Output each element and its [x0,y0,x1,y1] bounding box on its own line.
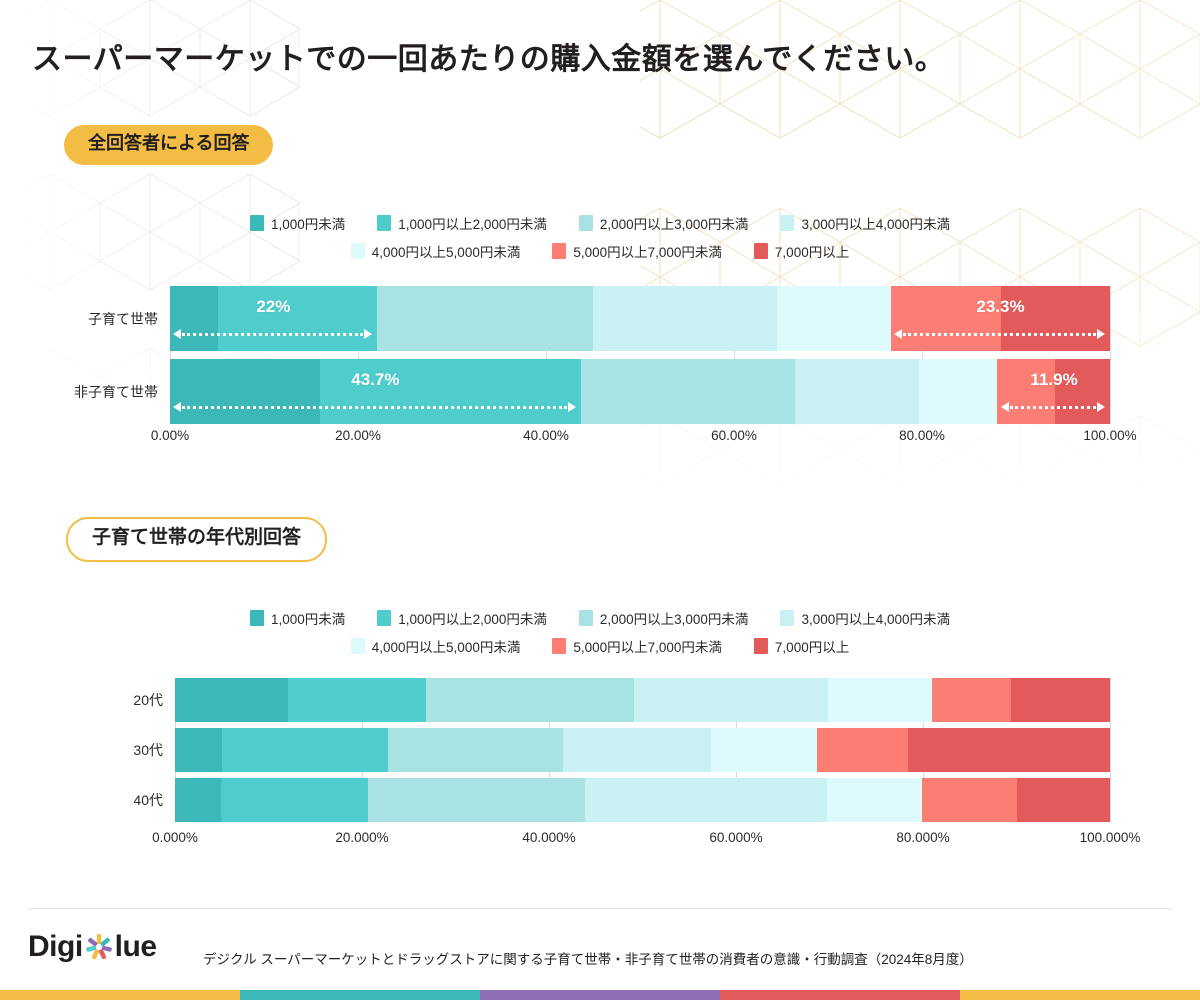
stacked-bar [175,728,1110,772]
legend-label: 1,000円未満 [271,213,345,233]
stacked-bar [175,678,1110,722]
page-title: スーパーマーケットでの一回あたりの購入金額を選んでください。 [32,34,945,78]
legend-item[interactable]: 1,000円以上2,000円未満 [377,608,547,628]
value-label: 43.7% [351,370,399,390]
legend-swatch-icon [250,610,264,626]
chart-all-respondents: 子育て世帯非子育て世帯22%23.3%43.7%11.9% 0.00%20.00… [170,286,1110,446]
legend-label: 7,000円以上 [775,636,849,656]
gridline [1110,286,1111,424]
legend-swatch-icon [579,215,593,231]
legend-label: 5,000円以上7,000円未満 [573,241,722,261]
row-label: 40代 [133,790,163,810]
bar-segment[interactable] [377,286,593,351]
legend-row: 4,000円以上5,000円未満5,000円以上7,000円未満7,000円以上 [335,241,865,261]
legend-item[interactable]: 2,000円以上3,000円未満 [579,608,749,628]
chart-row: 30代 [175,728,1110,772]
footer-divider [28,908,1172,909]
bar-segment[interactable] [634,678,828,722]
bar-segment[interactable] [817,728,908,772]
bar-segment[interactable] [175,678,288,722]
axis-tick-label: 40.000% [522,830,575,845]
logo-star-icon [84,932,114,962]
legend-swatch-icon [579,610,593,626]
legend-item[interactable]: 1,000円未満 [250,608,345,628]
legend-swatch-icon [780,215,794,231]
bar-segment[interactable] [222,728,388,772]
axis-tick-label: 20.00% [335,428,381,443]
legend-label: 1,000円未満 [271,608,345,628]
legend-row: 4,000円以上5,000円未満5,000円以上7,000円未満7,000円以上 [335,636,865,656]
legend-swatch-icon [552,243,566,259]
legend-swatch-icon [754,243,768,259]
bar-segment[interactable] [777,286,891,351]
section-pill-all-respondents: 全回答者による回答 [64,125,273,165]
bar-segment[interactable] [175,728,222,772]
chart-row: 子育て世帯 [170,286,1110,351]
measure-arrow-icon [894,329,1105,339]
gridline [1110,678,1111,822]
bar-segment[interactable] [221,778,368,822]
legend-label: 3,000円以上4,000円未満 [801,213,950,233]
stacked-bar [175,778,1110,822]
value-label: 22% [256,297,290,317]
legend-swatch-icon [377,610,391,626]
legend-label: 5,000円以上7,000円未満 [573,636,722,656]
axis-tick-label: 80.00% [899,428,945,443]
bar-segment[interactable] [922,778,1017,822]
axis-tick-label: 60.00% [711,428,757,443]
logo-text-left: Digi [28,930,83,964]
chart-row: 非子育て世帯 [170,359,1110,424]
axis-tick-label: 0.000% [152,830,198,845]
bar-segment[interactable] [908,728,1110,772]
bottom-bar-segment [720,990,960,1000]
legend-item[interactable]: 5,000円以上7,000円未満 [552,636,722,656]
legend-label: 4,000円以上5,000円未満 [372,241,521,261]
legend-label: 4,000円以上5,000円未満 [372,636,521,656]
bar-segment[interactable] [581,359,795,424]
legend-swatch-icon [250,215,264,231]
legend-row: 1,000円未満1,000円以上2,000円未満2,000円以上3,000円未満… [234,608,966,628]
chart-row: 20代 [175,678,1110,722]
legend-item[interactable]: 5,000円以上7,000円未満 [552,241,722,261]
stacked-bar [170,359,1110,424]
bar-segment[interactable] [828,678,933,722]
bottom-bar-segment [480,990,720,1000]
value-label: 11.9% [1030,370,1077,390]
bar-segment[interactable] [1011,678,1110,722]
bar-segment[interactable] [795,359,919,424]
bar-segment[interactable] [170,286,218,351]
bar-segment[interactable] [170,359,320,424]
stacked-bar [170,286,1110,351]
brand-logo: Digi lue [28,930,157,964]
measure-arrow-icon [1001,402,1105,412]
legend-swatch-icon [552,638,566,654]
bar-segment[interactable] [585,778,826,822]
bar-segment[interactable] [827,778,922,822]
row-label: 子育て世帯 [88,309,158,329]
legend-item[interactable]: 1,000円以上2,000円未満 [377,213,547,233]
bar-segment[interactable] [932,678,1011,722]
legend-label: 3,000円以上4,000円未満 [801,608,950,628]
axis-tick-label: 40.00% [523,428,569,443]
bottom-bar-segment [960,990,1200,1000]
axis-tick-label: 0.00% [151,428,189,443]
legend-chart-childrearing-by-age: 1,000円未満1,000円以上2,000円未満2,000円以上3,000円未満… [0,608,1200,656]
bar-segment[interactable] [288,678,425,722]
bottom-color-bar [0,990,1200,1000]
legend-item[interactable]: 4,000円以上5,000円未満 [351,241,521,261]
measure-arrow-icon [173,329,372,339]
row-label: 30代 [133,740,163,760]
legend-item[interactable]: 2,000円以上3,000円未満 [579,213,749,233]
legend-item[interactable]: 7,000円以上 [754,241,849,261]
axis-tick-label: 100.000% [1080,830,1141,845]
value-label: 23.3% [976,297,1024,317]
legend-item[interactable]: 1,000円未満 [250,213,345,233]
bottom-bar-segment [240,990,480,1000]
bar-segment[interactable] [919,359,997,424]
legend-label: 2,000円以上3,000円未満 [600,213,749,233]
bar-segment[interactable] [593,286,777,351]
bar-segment[interactable] [175,778,221,822]
bar-segment[interactable] [218,286,377,351]
bar-segment[interactable] [563,728,711,772]
logo-text-right: lue [115,930,157,964]
legend-item[interactable]: 7,000円以上 [754,636,849,656]
legend-swatch-icon [351,638,365,654]
legend-swatch-icon [754,638,768,654]
legend-swatch-icon [351,243,365,259]
chart-childrearing-by-age: 20代30代40代 0.000%20.000%40.000%60.000%80.… [175,678,1110,858]
axis-tick-label: 60.000% [709,830,762,845]
measure-arrow-icon [173,402,576,412]
bar-segment[interactable] [426,678,635,722]
legend-item[interactable]: 4,000円以上5,000円未満 [351,636,521,656]
legend-swatch-icon [377,215,391,231]
bar-segment[interactable] [388,728,563,772]
row-label: 20代 [133,690,163,710]
legend-chart-all-respondents: 1,000円未満1,000円以上2,000円未満2,000円以上3,000円未満… [0,213,1200,261]
chart-row: 40代 [175,778,1110,822]
legend-item[interactable]: 3,000円以上4,000円未満 [780,213,950,233]
legend-label: 7,000円以上 [775,241,849,261]
legend-item[interactable]: 3,000円以上4,000円未満 [780,608,950,628]
legend-label: 1,000円以上2,000円未満 [398,608,547,628]
axis-tick-label: 80.000% [896,830,949,845]
bottom-bar-segment [0,990,240,1000]
row-label: 非子育て世帯 [74,382,158,402]
axis-tick-label: 20.000% [335,830,388,845]
legend-label: 2,000円以上3,000円未満 [600,608,749,628]
bar-segment[interactable] [711,728,818,772]
section-pill-childrearing-by-age: 子育て世帯の年代別回答 [66,517,327,562]
axis-tick-label: 100.00% [1083,428,1136,443]
footer-caption: デジクル スーパーマーケットとドラッグストアに関する子育て世帯・非子育て世帯の消… [203,948,973,968]
bar-segment[interactable] [1017,778,1110,822]
legend-label: 1,000円以上2,000円未満 [398,213,547,233]
bar-segment[interactable] [368,778,586,822]
infographic-page: スーパーマーケットでの一回あたりの購入金額を選んでください。 全回答者による回答… [0,0,1200,1000]
legend-row: 1,000円未満1,000円以上2,000円未満2,000円以上3,000円未満… [234,213,966,233]
legend-swatch-icon [780,610,794,626]
